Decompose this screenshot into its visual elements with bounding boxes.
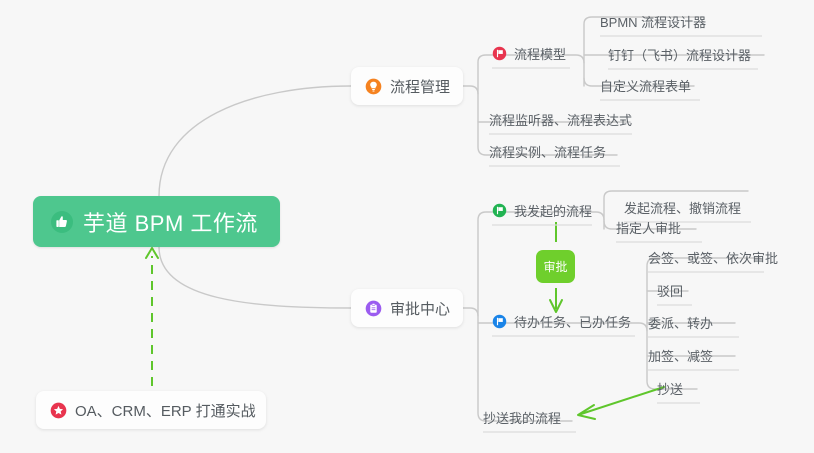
leaf-label-reject: 驳回	[657, 281, 683, 300]
leaf-label-custom-form: 自定义流程表单	[600, 76, 691, 95]
flag-icon-blue	[492, 314, 507, 329]
leaf-label-countersign: 会签、或签、依次审批	[648, 248, 778, 267]
leaf-label-bpmn-designer: BPMN 流程设计器	[600, 12, 706, 31]
branch-node-approval-center[interactable]: 审批中心	[351, 289, 463, 327]
leaf-countersign[interactable]: 会签、或签、依次审批	[648, 248, 778, 270]
root-node[interactable]: 芋道 BPM 工作流	[33, 196, 280, 247]
root-label: 芋道 BPM 工作流	[83, 206, 258, 238]
flag-icon-green	[492, 203, 507, 218]
leaf-cc-to-me[interactable]: 抄送我的流程	[483, 408, 561, 430]
clipboard-icon	[365, 300, 382, 317]
leaf-label-dingtalk-designer: 钉钉（飞书）流程设计器	[608, 45, 751, 64]
leaf-bpmn-designer[interactable]: BPMN 流程设计器	[600, 12, 706, 34]
thumbs-up-icon	[50, 210, 74, 234]
leaf-process-instance[interactable]: 流程实例、流程任务	[489, 142, 606, 164]
leaf-start-cancel-process[interactable]: 发起流程、撤销流程	[624, 198, 741, 220]
branch-label-approval-center: 审批中心	[390, 298, 450, 319]
approval-badge[interactable]: 审批	[536, 250, 575, 283]
leaf-label-process-instance: 流程实例、流程任务	[489, 142, 606, 161]
leaf-delegate-transfer[interactable]: 委派、转办	[648, 313, 713, 335]
wire-root-to-process-management	[159, 86, 351, 196]
leaf-todo-done-tasks[interactable]: 待办任务、已办任务	[492, 312, 631, 334]
leaf-carbon-copy[interactable]: 抄送	[657, 379, 683, 401]
lightbulb-icon	[365, 78, 382, 95]
leaf-dingtalk-designer[interactable]: 钉钉（飞书）流程设计器	[608, 45, 751, 67]
leaf-add-remove-sign[interactable]: 加签、减签	[648, 346, 713, 368]
bottom-note-label: OA、CRM、ERP 打通实战	[75, 400, 256, 421]
star-icon	[50, 402, 67, 419]
leaf-label-process-model: 流程模型	[514, 44, 566, 63]
wire-root-to-approval-center	[159, 247, 351, 308]
annotation-arrow-bottom	[146, 248, 158, 386]
mindmap-canvas: 芋道 BPM 工作流 流程管理 审批中心	[0, 0, 814, 453]
bottom-note-node[interactable]: OA、CRM、ERP 打通实战	[36, 391, 266, 429]
leaf-process-listener[interactable]: 流程监听器、流程表达式	[489, 110, 632, 132]
leaf-label-add-remove-sign: 加签、减签	[648, 346, 713, 365]
leaf-reject[interactable]: 驳回	[657, 281, 683, 303]
leaf-label-carbon-copy: 抄送	[657, 379, 683, 398]
branch-label-process-management: 流程管理	[390, 76, 450, 97]
wire-model-trunk	[568, 55, 584, 86]
leaf-label-assign-approver: 指定人审批	[616, 218, 681, 237]
leaf-label-cc-to-me: 抄送我的流程	[483, 408, 561, 427]
leaf-assign-approver[interactable]: 指定人审批	[616, 218, 681, 240]
leaf-label-my-initiated: 我发起的流程	[514, 201, 592, 220]
leaf-label-todo-done-tasks: 待办任务、已办任务	[514, 312, 631, 331]
leaf-process-model[interactable]: 流程模型	[492, 44, 566, 66]
leaf-label-start-cancel-process: 发起流程、撤销流程	[624, 198, 741, 217]
leaf-my-initiated[interactable]: 我发起的流程	[492, 201, 592, 223]
flag-icon-red	[492, 46, 507, 61]
annotation-arrow-cc	[578, 387, 664, 419]
leaf-label-process-listener: 流程监听器、流程表达式	[489, 110, 632, 129]
approval-badge-label: 审批	[543, 258, 567, 275]
branch-node-process-management[interactable]: 流程管理	[351, 67, 463, 105]
leaf-custom-form[interactable]: 自定义流程表单	[600, 76, 691, 98]
leaf-label-delegate-transfer: 委派、转办	[648, 313, 713, 332]
